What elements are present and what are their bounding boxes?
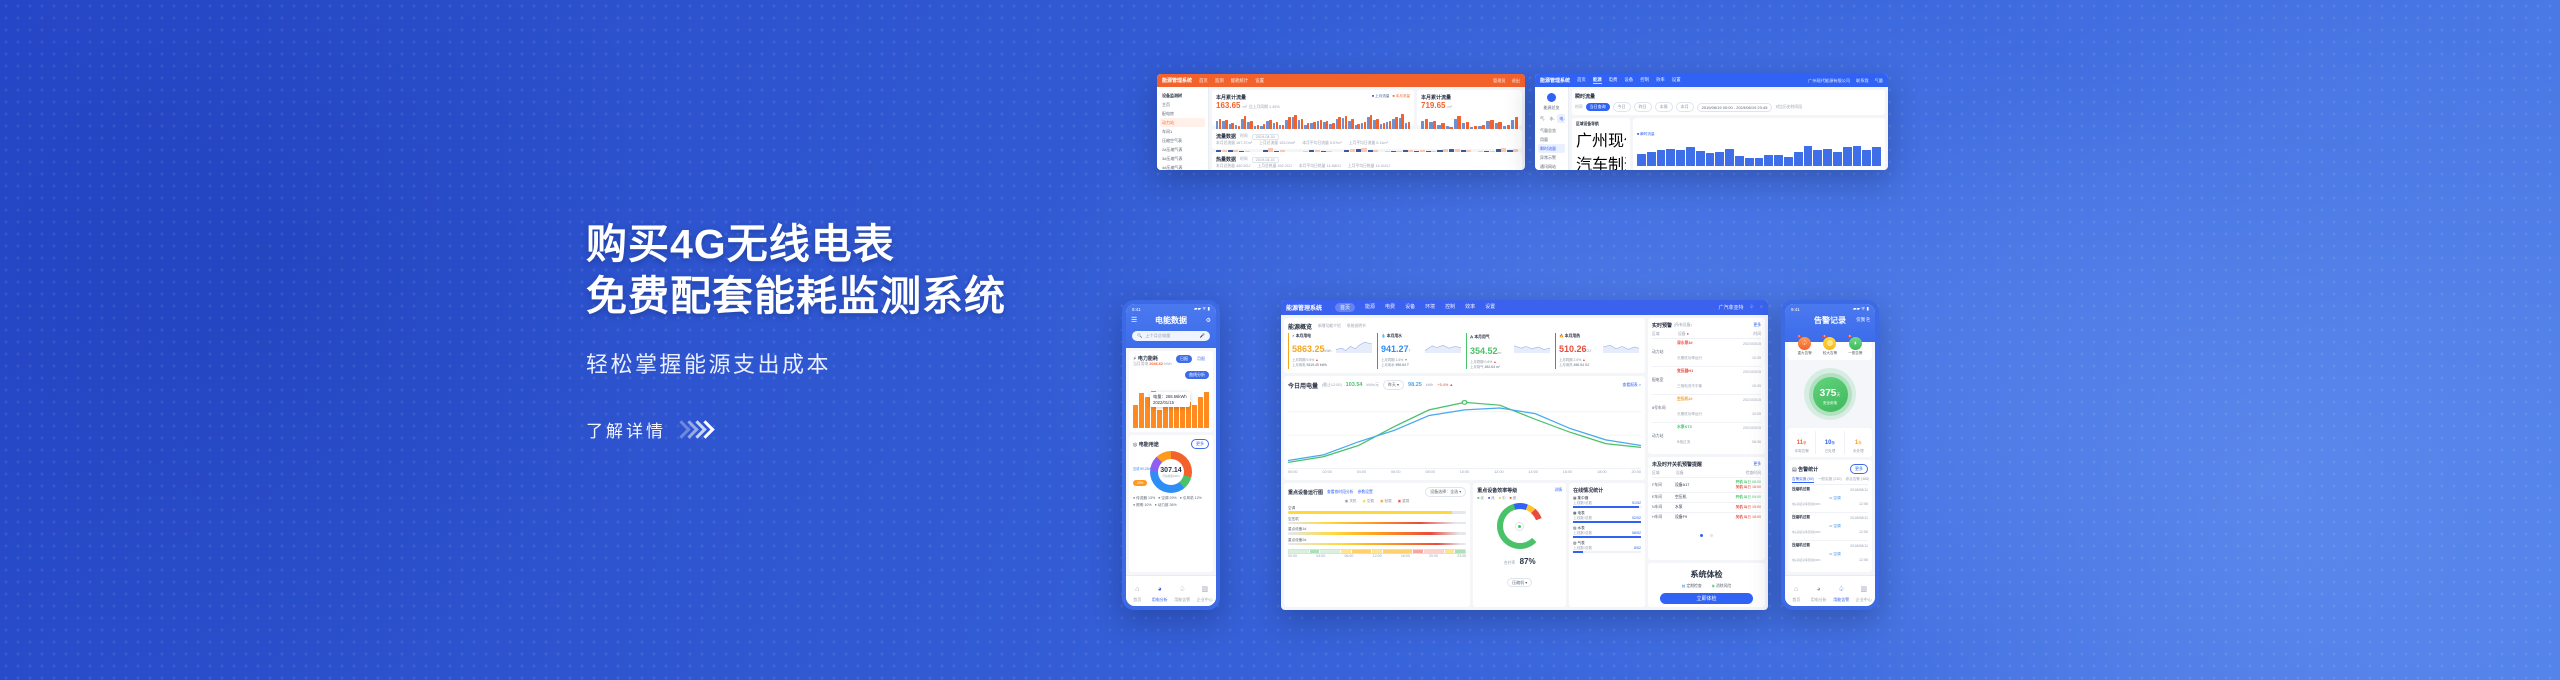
remind-tag: 开机 [1736, 495, 1743, 499]
alarm-list-item[interactable]: 压缩机过载电子超定功率范围的20% ▭ 空调 2018/08/1112:56 [1792, 513, 1868, 541]
legend-item: ● 传送器 13% [1133, 496, 1155, 501]
bottom-nav[interactable]: ⌂首页 ◕用电分析 ♤用能告警 ▥企业中心 [1126, 575, 1216, 606]
nav-label: 用电分析 [1149, 597, 1172, 603]
remind-area: F车间 [1652, 483, 1672, 488]
remind-tag: 关机 [1736, 485, 1743, 489]
badge-count: 8 [1848, 335, 1852, 338]
nav-label: 企业中心 [1853, 597, 1876, 603]
sidebar-item-3[interactable]: 车间1 [1160, 127, 1205, 136]
th-device: 设备 ● [1678, 332, 1749, 337]
equipment-runtime-card: 重点设备运行图 查看各时段分析 参数设置 设备选择：全选 ▾ ▣ 关机 ▣ 空载… [1284, 483, 1470, 607]
dashboard-center-window[interactable]: 能源管理系统 首页 能源 电费 设备 环境 控制 效率 设置 广汽菲亚特 ♤ ◌ [1281, 300, 1768, 610]
learn-more-button[interactable]: 了解详情 [586, 417, 1146, 442]
sidebar-item-1[interactable]: 用量 [1538, 135, 1565, 144]
overview-link-1[interactable]: 系统说明书 [1347, 324, 1366, 329]
nav-analysis[interactable]: ◕用电分析 [1808, 578, 1831, 603]
sidebar-item-6[interactable]: 3#压缩气表 [1160, 154, 1205, 163]
sidebar-item-4[interactable]: 通讯网站 [1538, 162, 1565, 170]
phone-left[interactable]: 9:41 ▰▰ ᯤ ▮ ☰ 电能数据 ⚙ 🔍 上个月总电量 🎤 [1122, 300, 1220, 610]
device-tree-sidebar[interactable]: 设备监测树 主页 配电房 动力站 车间1 压缩空气表 2#压缩气表 3#压缩气表… [1157, 87, 1209, 170]
today-title: 今日用电量 [1288, 381, 1318, 390]
tooltip-line-2: 2022/01/15 [1153, 400, 1187, 405]
bell-icon[interactable]: ♤ [1750, 304, 1754, 311]
overview-title: 能源概览 [1288, 322, 1312, 331]
user-icon[interactable]: ◌ [1760, 304, 1763, 311]
remind-area: E车间 [1652, 495, 1672, 500]
logout-link[interactable]: 退出 [1512, 78, 1520, 84]
kpi-card-heat: 🔥 本月用热 510.26GJ 上月同期 2.6% ▲ 上月用热 496.54 … [1555, 333, 1641, 369]
today-compare-unit: kWh [1426, 383, 1434, 387]
nav-item-stats[interactable]: 能耗统计 [1231, 78, 1249, 84]
dashboard-rt-header: 能源管理系统 首页 能源 电费 设备 控制 效率 设置 广州现代能源有限公司 联… [1535, 74, 1888, 87]
microphone-icon[interactable]: 🎤 [1200, 333, 1205, 339]
xtick: 04:00 [1357, 470, 1367, 474]
efficiency-grade-card: 重点设备效率等级 详情 ■ 优 ■ 良 ■ 中 ■ 差 [1473, 483, 1566, 607]
alarm-row[interactable]: 动力站 水泵KT3B相过流 2021/03/1508:36 [1652, 423, 1761, 450]
alarm-time: 10:39 [1752, 384, 1761, 388]
xtick: 20:00 [1631, 470, 1641, 474]
energy-overview-card: 能源概览 新增功能介绍 系统说明书 ⚡ 本月用电 5863.25kWh 上月同期… [1284, 318, 1645, 373]
sidebar-item-2[interactable]: 瞬时流量 [1538, 144, 1565, 153]
chevron-right-icon [680, 423, 712, 436]
main-nav[interactable]: 首页 能源 电费 设备 控制 效率 设置 [1577, 77, 1801, 84]
realtime-alarm-card: 实时预警 (所有设备) 更多 区域 设备 ● 时间 动力站 深水泵3#长期低功率… [1648, 318, 1765, 454]
xtick: 12:00 [1494, 470, 1504, 474]
xtick: 06:00 [1391, 470, 1401, 474]
eff-rate-label: 合并率 [1504, 561, 1515, 565]
donut-side-label: 空调 89.23kWh [1133, 466, 1155, 471]
stat-pending: 1条 未处理 [1845, 431, 1872, 454]
gas-link[interactable]: 气量 [1875, 78, 1883, 84]
alarm-device: 水泵KT3 [1677, 425, 1740, 430]
toggle-monthly[interactable]: 月报 [1193, 355, 1209, 363]
kpi-sparkline [1603, 339, 1639, 355]
item-sub: 电子超定功率范围的20% [1792, 559, 1821, 562]
nav-item-environment[interactable]: 环境 [1425, 303, 1435, 312]
nav-item-device[interactable]: 设备 [1624, 77, 1633, 84]
filter-button-yesterday[interactable]: 昨日 [1634, 102, 1652, 112]
alarm-desc: 三相电流不平衡 [1677, 384, 1702, 388]
building-icon: ▥ [1201, 586, 1208, 593]
clipboard-icon: ▤ [1682, 584, 1686, 588]
chart-value-2: 719.65 [1421, 101, 1445, 110]
online-label: 电表 [1578, 511, 1585, 515]
list-tab-2[interactable]: 综合告警 (388) [1846, 477, 1870, 483]
headline-line-1: 购买4G无线电表 [586, 218, 1146, 270]
pie-chart-icon: ◕ [1817, 586, 1821, 593]
nav-item-home[interactable]: 首页 [1335, 303, 1355, 312]
list-title: ▤ 告警统计 [1792, 466, 1818, 473]
timeline-tick: 16:00 [1401, 554, 1410, 558]
legend-item: ● 引风机 12% [1180, 496, 1202, 501]
online-sub: 上线数/总数 [1573, 516, 1592, 521]
filter-button-week[interactable]: 本周 [1655, 102, 1673, 112]
tree-item-1[interactable]: 汽车制造中心 [1576, 151, 1626, 170]
online-value: 51/52 [1632, 501, 1641, 506]
chart-compare: 比上月同期 1.45% [1249, 105, 1280, 110]
header-user-area[interactable]: 广州现代能源有限公司 联系我 气量 [1808, 78, 1883, 84]
dashboard-right-top-window[interactable]: 能源管理系统 首页 能源 电费 设备 控制 效率 设置 广州现代能源有限公司 联… [1535, 74, 1888, 170]
online-value: 8/52 [1634, 546, 1641, 551]
stat-label: 本周告警 [1788, 449, 1815, 454]
item-device: ▭ 空调 [1829, 524, 1847, 529]
nav-enterprise[interactable]: ▥企业中心 [1853, 578, 1876, 603]
list-more-button[interactable]: 更多 [1850, 464, 1868, 474]
heat-filter-label: 时间 [1240, 157, 1248, 162]
phone-header: 告警记录 仅我 ⎘ [1785, 312, 1875, 328]
chart-unit: m³ [1242, 105, 1246, 109]
nav-item-fee[interactable]: 电费 [1609, 77, 1618, 84]
alarm-area: 动力站 [1652, 350, 1674, 355]
xtick: 10:00 [1460, 470, 1470, 474]
alarm-card-major[interactable]: ♤ 3 重大告警 [1792, 335, 1817, 356]
nav-item-home[interactable]: 首页 [1199, 78, 1208, 84]
stat-label: 未处理 [1845, 449, 1872, 454]
nav-item-settings[interactable]: 设置 [1255, 78, 1264, 84]
kpi-prev: 上月用热 496.54 GJ [1559, 362, 1641, 367]
alarm-summary-card: ♤ 3 重大告警 ◍ 5 较大告警 ◗ 8 一般告警 [1788, 331, 1872, 360]
banner-copy: 购买4G无线电表 免费配套能耗监测系统 轻松掌握能源支出成本 了解详情 [586, 218, 1146, 442]
equip-legend-heavy: ▣ 重载 [1398, 499, 1410, 504]
flow-stat-3: 上月平均日流量 5.11m³ [1349, 141, 1388, 146]
item-device: ▭ 空调 [1829, 496, 1847, 501]
alarm-stats-row: 11条 本周告警 10条 已处理 1条 未处理 [1788, 428, 1872, 457]
health-item-1: ◉ 消除风险 [1712, 583, 1732, 589]
app-brand: 能源管理系统 [1540, 77, 1570, 84]
sidebar-item-0[interactable]: 气量总览 [1538, 126, 1565, 135]
shield-check-icon: ◉ [1712, 584, 1715, 588]
home-icon: ⌂ [1135, 586, 1139, 593]
status-time: 9:41 [1132, 307, 1141, 312]
nav-label: 用电分析 [1808, 597, 1831, 603]
nav-analysis[interactable]: ◕用电分析 [1149, 578, 1172, 603]
alarm-title: 实时预警 [1652, 322, 1672, 329]
sidebar-item-4[interactable]: 压缩空气表 [1160, 136, 1205, 145]
equip-row: 重点设备2# [1288, 538, 1466, 546]
flow-data-card: 流量数据 时间 2019-04-01 本月总流量 167.37m³ 上月总流量 … [1212, 129, 1522, 149]
energy-usage-card: ◎ 电能用途 更多 307.14 月总电量(kWh) 空调 89.23kWh [1129, 435, 1213, 572]
xtick: 14:00 [1528, 470, 1538, 474]
main-nav[interactable]: 首页 监测 能耗统计 设置 [1199, 78, 1486, 84]
alarm-date: 2021/03/15 [1743, 370, 1761, 374]
share-icon[interactable]: 仅我 ⎘ [1856, 317, 1870, 323]
promo-banner: 购买4G无线电表 免费配套能耗监测系统 轻松掌握能源支出成本 了解详情 能源管理… [0, 0, 2560, 680]
rt-chart-card: ■ 瞬时流量 2019/06/19 09:00 ■ 瞬时流量(m³/h) 50.… [1633, 118, 1885, 170]
timeline-tick: 23:00 [1457, 554, 1466, 558]
today-consumption-card: 今日用电量 (截止12:00) 103.54 kWh/元 昨天 ▾ 98.25 … [1284, 376, 1645, 480]
nav-home[interactable]: ⌂首页 [1126, 578, 1149, 603]
nav-label: 用能告警 [1171, 597, 1194, 603]
item-sub: 电子超定功率范围的20% [1792, 531, 1821, 534]
nav-item-energy[interactable]: 能源 [1593, 77, 1602, 84]
compare-checkbox[interactable]: 对比历史时间段 [1775, 105, 1802, 110]
nav-home[interactable]: ⌂首页 [1785, 578, 1808, 603]
flow-stat-0: 本月总流量 167.37m³ [1216, 141, 1252, 146]
remind-time: 每日 15:00 [1744, 505, 1761, 509]
alarm-desc: B相过流 [1677, 440, 1690, 444]
item-sub: 电子超定功率范围的20% [1792, 503, 1821, 506]
speaker-icon: ◗ [1849, 337, 1862, 350]
panel-title: 瞬时流量 [1575, 93, 1882, 100]
remind-device: 设备A17 [1675, 483, 1733, 488]
kpi-prev: 上月用电 5319.45 kWh [1292, 362, 1374, 367]
eff-detail-link[interactable]: 详情 [1555, 488, 1563, 493]
today-line-chart [1288, 393, 1641, 468]
equip-row: 空调 [1288, 506, 1466, 514]
equip-row-label: 重点设备2# [1288, 538, 1466, 543]
sidebar-title: 设备监测树 [1160, 91, 1205, 100]
alarm-list-item[interactable]: 压缩机过载电子超定功率范围的20% ▭ 空调 2018/08/1112:56 [1792, 541, 1868, 568]
sidebar-tab-power[interactable]: 电量 [1557, 114, 1565, 123]
system-health-card: 系统体检 ▤ 定期检查 ◉ 消除风险 立即体检 [1648, 563, 1765, 607]
th-check-time: 检查时间 [1746, 471, 1761, 476]
date-range-input[interactable]: 2019/06/19 00:00 - 2019/06/19 23:45 [1697, 103, 1773, 112]
pie-chart-icon: ◕ [1158, 586, 1162, 593]
item-title: 压缩机过载 [1792, 487, 1826, 492]
xtick: 00:00 [1288, 470, 1298, 474]
filter-button-today[interactable]: 今日 [1613, 102, 1631, 112]
equip-row: 空压机 [1288, 517, 1466, 525]
remind-time: 每日 18:00 [1744, 485, 1761, 489]
sidebar-item-5[interactable]: 2#压缩气表 [1160, 145, 1205, 154]
flow-data-title: 流量数据 [1216, 133, 1236, 140]
legend-item: ● 照明 10% [1133, 503, 1152, 508]
header-user-area[interactable]: 广汽菲亚特 ♤ ◌ [1719, 304, 1763, 311]
eff-legend-excellent: ■ 优 [1477, 496, 1484, 501]
kpi-value: 941.27 [1381, 344, 1409, 354]
alarm-date: 2021/03/15 [1743, 342, 1761, 346]
item-device: ▭ 空调 [1829, 552, 1847, 557]
page-title: 电能数据 [1155, 315, 1187, 326]
tree-item-0[interactable]: 广州现代能源有限公... [1576, 127, 1626, 151]
heat-stat-3: 上月平均日热量 14.41GJ [1348, 164, 1390, 169]
remind-device: 设备F9 [1675, 515, 1733, 520]
nav-item-settings[interactable]: 设置 [1485, 303, 1495, 312]
header-user-area[interactable]: 管理员 退出 [1493, 78, 1520, 84]
nav-alarm[interactable]: ♤用能告警 [1171, 578, 1194, 603]
alarm-card-general[interactable]: ◗ 8 一般告警 [1843, 335, 1868, 356]
user-name[interactable]: 广汽菲亚特 [1719, 304, 1744, 311]
dashboard-left-header: 能源管理系统 首页 监测 能耗统计 设置 管理员 退出 [1157, 74, 1525, 87]
eff-legend-bad: ■ 差 [1510, 496, 1517, 501]
main-nav[interactable]: 首页 能源 电费 设备 环境 控制 效率 设置 [1335, 303, 1712, 312]
section-title: ⚡ 电力能耗 [1133, 355, 1172, 362]
company-name: 广州现代能源有限公司 [1808, 78, 1850, 84]
nav-alarm[interactable]: ♤用能告警 [1830, 578, 1853, 603]
kpi-value: 354.52 [1470, 346, 1498, 356]
legend-item: ● 动力部 36% [1155, 503, 1177, 508]
gear-icon[interactable]: ⚙ [1206, 317, 1211, 324]
sidebar-item-0[interactable]: 主页 [1160, 100, 1205, 109]
th-area: 区域 [1652, 471, 1672, 476]
banner-subtitle: 轻松掌握能源支出成本 [586, 347, 1146, 379]
online-item: ▦ 集中器 上线数/总数51/52 [1573, 496, 1641, 508]
today-select[interactable]: 昨天 ▾ [1383, 380, 1404, 390]
logo-circle-icon [1547, 93, 1556, 102]
reminder-row[interactable]: H车间 设备F9 关机 每日 18:00 [1652, 513, 1761, 522]
equip-legend-light: ▣ 轻载 [1380, 499, 1392, 504]
list-tab-1[interactable]: 一般实施 (230) [1818, 477, 1842, 483]
equip-link-1[interactable]: 参数设置 [1358, 490, 1373, 495]
dashboard-left-window[interactable]: 能源管理系统 首页 监测 能耗统计 设置 管理员 退出 设备监测树 主页 配电房… [1157, 74, 1525, 170]
alarm-desc: 长期低功率运行 [1677, 356, 1702, 360]
timeline-tick: 08:00 [1344, 554, 1353, 558]
status-time: 9:41 [1791, 307, 1800, 312]
stat-unit: 条 [1858, 441, 1862, 445]
alarm-list-card: ▤ 告警统计 更多 告警实施 (92) 一般实施 (230) 综合告警 (388… [1788, 460, 1872, 572]
sidebar-item-2[interactable]: 动力站 [1160, 118, 1205, 127]
nav-label: 企业中心 [1194, 597, 1217, 603]
sidebar-item-3[interactable]: 异常示警 [1538, 153, 1565, 162]
health-item-0: ▤ 定期检查 [1682, 583, 1702, 589]
heat-data-card: 热量数据 时间 2019-04-01 本月总热量 440.5GJ 上月总热量 4… [1212, 152, 1522, 170]
user-name: 管理员 [1493, 78, 1506, 84]
today-value: 103.54 [1346, 382, 1363, 388]
xtick: 08:00 [1425, 470, 1435, 474]
phone-right[interactable]: 9:41 ▰▰ ᯤ ▮ 告警记录 仅我 ⎘ ♤ 3 重大告警 ◍ [1781, 300, 1879, 610]
bell-icon: ♤ [1798, 337, 1811, 350]
online-value: 58/52 [1632, 531, 1641, 536]
nav-item-efficiency[interactable]: 效率 [1465, 303, 1475, 312]
alarm-row[interactable]: 8号车间 空压机3#长期低功率运行 2021/03/1510:05 [1652, 395, 1761, 423]
remind-title: 未及时开关机预警提醒 [1652, 461, 1702, 468]
nav-item-monitor[interactable]: 监测 [1215, 78, 1224, 84]
sidebar-item-1[interactable]: 配电房 [1160, 109, 1205, 118]
alarm-device: 空压机3# [1677, 397, 1740, 402]
item-date: 2018/08/11 [1850, 488, 1868, 492]
overview-link-0[interactable]: 新增功能介绍 [1318, 324, 1341, 329]
heat-data-title: 热量数据 [1216, 156, 1236, 163]
remind-time: 每日 09:00 [1744, 495, 1761, 499]
eff-select[interactable]: 压缩机 ▾ [1507, 578, 1532, 587]
alarm-card-medium[interactable]: ◍ 5 较大告警 [1817, 335, 1842, 356]
list-tab-0[interactable]: 告警实施 (92) [1792, 477, 1814, 483]
alarm-row[interactable]: 动力站 深水泵3#长期低功率运行 2021/03/1512:35 [1652, 339, 1761, 367]
bottom-nav[interactable]: ⌂首页 ◕用电分析 ♤用能告警 ▥企业中心 [1785, 575, 1875, 606]
contact-link[interactable]: 联系我 [1856, 78, 1869, 84]
view-report-link[interactable]: 查看报表 > [1623, 383, 1641, 388]
nav-enterprise[interactable]: ▥企业中心 [1194, 578, 1217, 603]
device-tree-card[interactable]: 区域设备导航 广州现代能源有限公... 汽车制造中心 冲压车间 总装车间 涂装车… [1572, 118, 1630, 170]
filter-button-month[interactable]: 本月 [1676, 102, 1694, 112]
kpi-sparkline [1514, 339, 1550, 355]
today-compare-value: 98.25 [1408, 382, 1422, 388]
rt-sidebar[interactable]: 能源总览 气量 水量 电量 气量总览 用量 瞬时流量 异常示警 通讯网站 时用流… [1535, 87, 1569, 170]
th-time: 时间 [1753, 332, 1761, 337]
equip-row-label: 空压机 [1288, 517, 1466, 522]
kpi-prev: 上月用气 352.64 m³ [1470, 364, 1552, 369]
alarm-list-item[interactable]: 压缩机过载电子超定功率范围的20% ▭ 空调 2018/08/1112:56 [1792, 485, 1868, 513]
stat-unit: 条 [1832, 441, 1836, 445]
reminder-row[interactable]: N车间 水泵 关机 每日 15:00 [1652, 503, 1761, 513]
nav-item-device[interactable]: 设备 [1405, 303, 1415, 312]
reminder-row[interactable]: F车间 设备A17 开机 每日 08:00 关机 每日 18:00 [1652, 478, 1761, 493]
item-time: 12:56 [1859, 558, 1868, 562]
nav-label: 首页 [1126, 597, 1149, 603]
sidebar-tab-gas[interactable]: 气量 [1538, 114, 1546, 123]
start-health-check-button[interactable]: 立即体检 [1660, 593, 1753, 604]
stat-label: 已处理 [1816, 449, 1843, 454]
alarm-more-link[interactable]: 更多 [1753, 323, 1761, 328]
bell-icon: ♤ [1179, 586, 1185, 593]
hamburger-icon[interactable]: ☰ [1131, 316, 1137, 324]
app-brand: 能源管理系统 [1162, 77, 1192, 84]
search-placeholder: 上个月总电量 [1145, 333, 1197, 339]
timeline-tick: 20:00 [1429, 554, 1438, 558]
onoff-reminder-card: 未及时开关机预警提醒 更多 区域 设备 检查时间 F车间 设备A17 开机 每日… [1648, 457, 1765, 560]
alarm-card-label: 较大告警 [1817, 351, 1842, 356]
remind-tag: 关机 [1736, 505, 1743, 509]
kpi-card-water: 💧 本月用水 941.27T 上月同期 1.6% ▼ 上月用水 956.64 T [1377, 333, 1463, 369]
more-button[interactable]: 更多 [1191, 439, 1209, 449]
reminder-row[interactable]: E车间 空压机 开机 每日 09:00 [1652, 493, 1761, 503]
carousel-dots[interactable] [1652, 524, 1761, 542]
learn-more-label: 了解详情 [586, 417, 666, 442]
dashboard-center-header: 能源管理系统 首页 能源 电费 设备 环境 控制 效率 设置 广汽菲亚特 ♤ ◌ [1281, 300, 1768, 315]
alarm-date: 2021/03/15 [1743, 398, 1761, 402]
nav-item-settings[interactable]: 设置 [1672, 77, 1681, 84]
kpi-unit: m³ [1498, 351, 1502, 355]
alarm-row[interactable]: 配电室 变压器H1三相电流不平衡 2021/03/1510:39 [1652, 367, 1761, 395]
item-date: 2018/08/11 [1850, 544, 1868, 548]
sidebar-tab-water[interactable]: 水量 [1548, 114, 1556, 123]
donut-sub: 月总电量(kWh) [1162, 474, 1179, 478]
nav-item-control[interactable]: 控制 [1445, 303, 1455, 312]
flow-filter-value[interactable]: 2019-04-01 [1252, 134, 1279, 140]
section-sub: 当月用电 2046.62 kWh [1133, 362, 1172, 367]
nav-item-fee[interactable]: 电费 [1385, 303, 1395, 312]
curve-analysis-button[interactable]: 曲线分析 [1185, 371, 1209, 379]
status-bar: 9:41 ▰▰ ᯤ ▮ [1126, 304, 1216, 312]
filter-active-button[interactable]: 当日查询 [1586, 103, 1610, 111]
equip-select[interactable]: 设备选择：全选 ▾ [1425, 487, 1466, 497]
sidebar-logo-label: 能源总览 [1538, 103, 1565, 112]
efficiency-gauge [1497, 503, 1543, 549]
nav-item-efficiency[interactable]: 效率 [1656, 77, 1665, 84]
status-bar: 9:41 ▰▰ ᯤ ▮ [1785, 304, 1875, 312]
alarm-scope: (所有设备) [1674, 323, 1692, 328]
heat-stat-2: 本月平均日热量 14.68GJ [1299, 164, 1341, 169]
remind-more-link[interactable]: 更多 [1753, 462, 1761, 467]
remind-time: 每日 08:00 [1744, 480, 1761, 484]
phone-header: ☰ 电能数据 ⚙ [1126, 312, 1216, 328]
flow-stat-1: 上月总流量 153.00m³ [1259, 141, 1295, 146]
equip-link-0[interactable]: 查看各时段分析 [1327, 490, 1354, 495]
chart-unit-2: m³ [1447, 105, 1451, 109]
home-icon: ⌂ [1794, 586, 1798, 593]
heat-filter-value[interactable]: 2019-04-01 [1252, 157, 1279, 163]
search-input[interactable]: 🔍 上个月总电量 🎤 [1132, 331, 1210, 341]
kpi-card-gas: 🜂 本月用气 354.52m³ 上月同期 0.6% ▲ 上月用气 352.64 … [1466, 333, 1552, 369]
tooltip-line-1: 电量：268.56kWh [1153, 394, 1187, 400]
nav-item-control[interactable]: 控制 [1640, 77, 1649, 84]
remind-area: H车间 [1652, 515, 1672, 520]
online-item: ▧ 气表 上线数/总数8/52 [1573, 541, 1641, 553]
online-sub: 上线数/总数 [1573, 501, 1592, 506]
nav-item-home[interactable]: 首页 [1577, 77, 1586, 84]
nav-item-energy[interactable]: 能源 [1365, 303, 1375, 312]
stat-unit: 条 [1803, 441, 1807, 445]
sidebar-item-7[interactable]: 4#压缩气表 [1160, 163, 1205, 170]
safe-days-value: 375 [1820, 388, 1837, 399]
alarm-desc: 长期低功率运行 [1677, 412, 1702, 416]
building-icon: ▥ [1860, 586, 1867, 593]
toggle-daily[interactable]: 日报 [1176, 355, 1192, 363]
online-item: ▩ 电表 上线数/总数52/52 [1573, 511, 1641, 523]
remind-tag: 开机 [1736, 480, 1743, 484]
bell-icon: ♤ [1838, 586, 1844, 593]
donut-chart: 307.14 月总电量(kWh) [1150, 451, 1192, 493]
